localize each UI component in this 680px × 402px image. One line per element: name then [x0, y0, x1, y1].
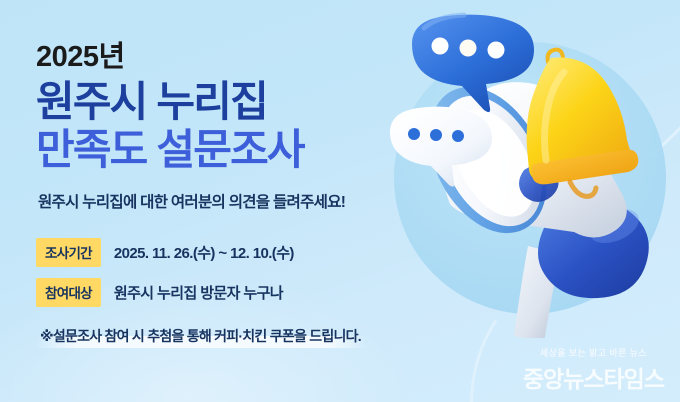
megaphone-grip [538, 199, 649, 298]
info-list: 조사기간 2025. 11. 26.(수) ~ 12. 10.(수) 참여대상 … [36, 238, 456, 307]
info-row-period: 조사기간 2025. 11. 26.(수) ~ 12. 10.(수) [36, 238, 456, 267]
megaphone-knob [519, 164, 559, 202]
grip-highlight [584, 202, 643, 249]
megaphone-body [443, 82, 627, 237]
badge-participation-target: 참여대상 [36, 278, 101, 307]
watermark-logo-text: 중앙뉴스타임스 [523, 360, 664, 394]
value-participation-target: 원주시 누리집 방문자 누구나 [114, 282, 283, 303]
watermark: 세상을 보는 밝고 바른 뉴스 중앙뉴스타임스 [523, 346, 664, 394]
info-row-target: 참여대상 원주시 누리집 방문자 누구나 [36, 278, 456, 307]
value-survey-period: 2025. 11. 26.(수) ~ 12. 10.(수) [114, 242, 294, 263]
year-line: 2025년 [36, 42, 456, 72]
note-text: ※설문조사 참여 시 추첨을 통해 커피·치킨 쿠폰을 드립니다. [40, 328, 361, 344]
megaphone-handle [514, 246, 560, 338]
subtitle: 원주시 누리집에 대한 여러분의 의견을 들려주세요! [38, 190, 456, 212]
survey-banner: 2025년 원주시 누리집 만족도 설문조사 원주시 누리집에 대한 여러분의 … [0, 0, 680, 402]
bell-icon [527, 50, 639, 197]
title-line-1: 원주시 누리집 [36, 78, 456, 125]
banner-content: 2025년 원주시 누리집 만족도 설문조사 원주시 누리집에 대한 여러분의 … [36, 42, 456, 346]
badge-survey-period: 조사기간 [36, 238, 101, 267]
note: ※설문조사 참여 시 추첨을 통해 커피·치킨 쿠폰을 드립니다. [40, 326, 361, 346]
title-line-2: 만족도 설문조사 [36, 126, 456, 173]
watermark-tagline: 세상을 보는 밝고 바른 뉴스 [523, 346, 664, 359]
background-swirl-bottom [442, 222, 680, 402]
